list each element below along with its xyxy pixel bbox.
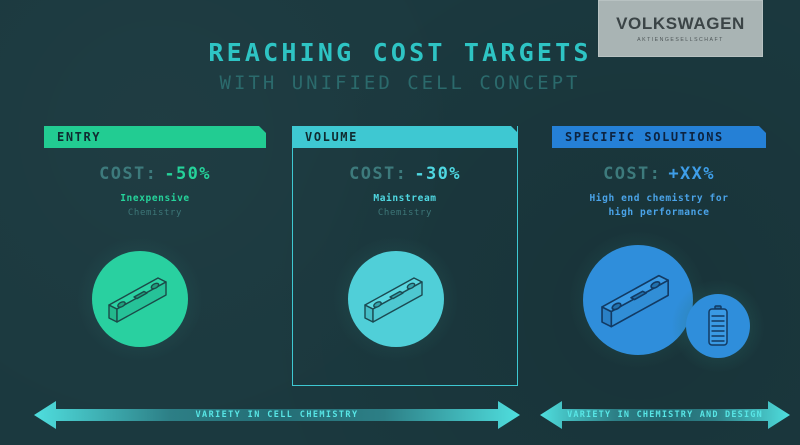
cost-row-entry: COST:-50% (44, 164, 266, 184)
page-title: REACHING COST TARGETS (0, 38, 800, 67)
double-arrow-icon (540, 398, 790, 432)
chemistry-secondary-volume: Chemistry (292, 208, 518, 218)
double-arrow-icon (34, 398, 520, 432)
arrow-chemistry-design: VARIETY IN CHEMISTRY AND DESIGN (540, 398, 790, 432)
chemistry-secondary-entry: Chemistry (44, 208, 266, 218)
cost-row-volume: COST:-30% (292, 164, 518, 184)
column-header-specific[interactable]: SPECIFIC SOLUTIONS (552, 126, 766, 148)
column-header-entry-label: ENTRY (57, 130, 101, 144)
cost-row-specific: COST:+XX% (552, 164, 766, 184)
chemistry-primary-specific: High end chemistry for (552, 193, 766, 206)
column-header-volume-label: VOLUME (305, 130, 358, 144)
prismatic-battery-cell-icon (103, 274, 177, 324)
logo-wordmark: VOLKSWAGEN (616, 15, 745, 32)
cost-value-specific: +XX% (668, 164, 715, 184)
cost-label-specific: COST: (603, 164, 661, 184)
cost-label-entry: COST: (99, 164, 157, 184)
prismatic-battery-cell-icon (595, 271, 681, 329)
cell-circle-entry (92, 251, 188, 347)
column-specific-solutions: SPECIFIC SOLUTIONS COST:+XX% High end ch… (552, 126, 766, 220)
cell-circle-volume (348, 251, 444, 347)
cost-value-entry: -50% (164, 164, 211, 184)
slide-canvas: VOLKSWAGEN AKTIENGESELLSCHAFT REACHING C… (0, 0, 800, 445)
arrow-cell-chemistry: VARIETY IN CELL CHEMISTRY (34, 398, 520, 432)
page-subtitle: WITH UNIFIED CELL CONCEPT (0, 72, 800, 94)
battery-circle (686, 294, 750, 358)
cost-label-volume: COST: (349, 164, 407, 184)
column-header-specific-label: SPECIFIC SOLUTIONS (565, 130, 724, 144)
battery-icon (705, 304, 731, 348)
column-header-entry[interactable]: ENTRY (44, 126, 266, 148)
chemistry-primary-specific-line2: high performance (552, 207, 766, 220)
column-header-volume[interactable]: VOLUME (292, 126, 518, 148)
chemistry-primary-entry: Inexpensive (44, 193, 266, 206)
column-volume: VOLUME COST:-30% Mainstream Chemistry (292, 126, 518, 218)
prismatic-battery-cell-icon (359, 274, 433, 324)
cost-value-volume: -30% (414, 164, 461, 184)
chemistry-primary-volume: Mainstream (292, 193, 518, 206)
column-entry: ENTRY COST:-50% Inexpensive Chemistry (44, 126, 266, 218)
